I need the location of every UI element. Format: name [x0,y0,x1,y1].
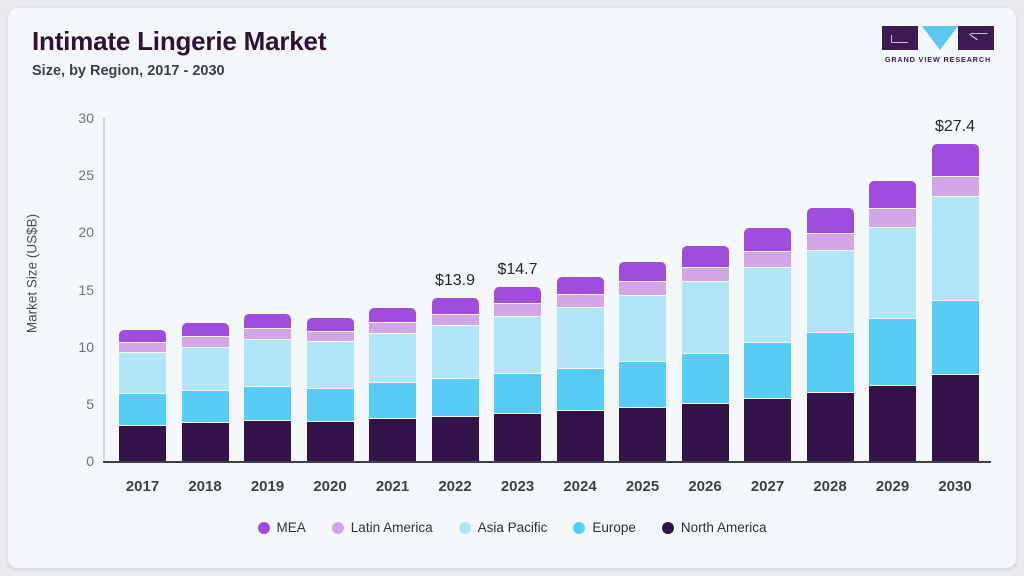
bar-segment[interactable] [182,323,229,336]
bar-segment[interactable] [869,208,916,227]
legend-item-mea[interactable]: MEA [258,520,306,535]
bar-segment[interactable] [119,352,166,393]
bar-segment[interactable] [744,228,791,251]
bar-2027[interactable] [744,228,791,461]
bar-segment[interactable] [244,386,291,420]
bar-segment[interactable] [619,262,666,281]
bar-segment[interactable] [244,339,291,386]
bar-segment[interactable] [307,388,354,421]
bar-segment[interactable] [119,425,166,461]
legend-item-north-america[interactable]: North America [662,520,767,535]
bar-segment[interactable] [119,342,166,352]
bar-segment[interactable] [619,407,666,461]
bar-2029[interactable] [869,181,916,461]
bar-segment[interactable] [369,382,416,417]
bar-segment[interactable] [932,300,979,375]
bar-segment[interactable] [682,353,729,403]
bar-2026[interactable] [682,246,729,461]
bar-2019[interactable] [244,314,291,461]
bar-2023[interactable] [494,287,541,461]
bar-segment[interactable] [182,347,229,391]
bar-segment[interactable] [432,416,479,461]
bar-2018[interactable] [182,323,229,461]
bar-segment[interactable] [682,267,729,282]
bar-2022[interactable] [432,298,479,461]
bar-segment[interactable] [432,314,479,326]
bar-segment[interactable] [182,390,229,422]
bar-segment[interactable] [807,392,854,461]
y-axis-tick-label: 20 [48,224,94,240]
bar-segment[interactable] [744,251,791,267]
bar-segment[interactable] [494,373,541,413]
bar-segment[interactable] [557,410,604,461]
bar-segment[interactable] [557,294,604,307]
bar-segment[interactable] [619,281,666,295]
bar-segment[interactable] [807,332,854,392]
legend-label: Asia Pacific [478,520,548,535]
legend-item-europe[interactable]: Europe [573,520,636,535]
bar-segment[interactable] [244,314,291,328]
bar-segment[interactable] [619,361,666,407]
bar-2020[interactable] [307,318,354,461]
bar-segment[interactable] [369,308,416,322]
bar-segment[interactable] [807,250,854,332]
bar-segment[interactable] [432,325,479,377]
bar-segment[interactable] [369,333,416,383]
bar-segment[interactable] [557,368,604,411]
bar-segment[interactable] [744,398,791,461]
bar-segment[interactable] [369,418,416,461]
bar-2021[interactable] [369,308,416,461]
bar-segment[interactable] [307,318,354,331]
bar-2028[interactable] [807,208,854,461]
y-axis-tick-label: 5 [48,396,94,412]
legend-label: Latin America [351,520,433,535]
bar-segment[interactable] [307,421,354,461]
bar-segment[interactable] [494,316,541,374]
bar-segment[interactable] [307,341,354,388]
bar-segment[interactable] [682,403,729,461]
bar-segment[interactable] [869,181,916,208]
bar-segment[interactable] [244,420,291,461]
bar-segment[interactable] [494,413,541,461]
legend-item-latin-america[interactable]: Latin America [332,520,433,535]
legend-label: Europe [592,520,636,535]
bar-segment[interactable] [244,328,291,339]
legend-label: MEA [277,520,306,535]
bar-segment[interactable] [557,277,604,294]
bar-segment[interactable] [307,331,354,342]
bar-value-label: $27.4 [900,118,1010,136]
bar-2030[interactable] [932,144,979,461]
bar-segment[interactable] [557,307,604,367]
legend-swatch-icon [662,522,674,534]
bar-2017[interactable] [119,330,166,461]
legend-swatch-icon [332,522,344,534]
bar-segment[interactable] [682,246,729,267]
legend-label: North America [681,520,767,535]
y-axis-tick-label: 30 [48,110,94,126]
stacked-bar-chart: Market Size (US$B) 051015202530 20172018… [8,8,1016,568]
y-axis-line [103,118,105,463]
bar-value-label: $14.7 [463,261,573,279]
bar-segment[interactable] [432,378,479,416]
bar-2024[interactable] [557,277,604,461]
bar-segment[interactable] [182,336,229,347]
bar-segment[interactable] [369,322,416,333]
bar-segment[interactable] [869,227,916,318]
y-axis-tick-label: 10 [48,339,94,355]
legend-swatch-icon [258,522,270,534]
y-axis-title: Market Size (US$B) [25,124,40,424]
bar-segment[interactable] [807,233,854,250]
bar-segment[interactable] [682,281,729,353]
legend-item-asia-pacific[interactable]: Asia Pacific [459,520,548,535]
legend-swatch-icon [459,522,471,534]
legend-swatch-icon [573,522,585,534]
bar-segment[interactable] [182,422,229,461]
bar-segment[interactable] [932,196,979,300]
bar-segment[interactable] [744,342,791,398]
bar-segment[interactable] [119,330,166,342]
bar-segment[interactable] [932,176,979,196]
x-axis-tick-label: 2030 [910,478,1000,495]
bar-segment[interactable] [869,385,916,461]
chart-legend: MEALatin AmericaAsia PacificEuropeNorth … [8,520,1016,535]
bar-segment[interactable] [119,393,166,424]
chart-card: Intimate Lingerie Market Size, by Region… [8,8,1016,568]
bar-segment[interactable] [932,144,979,176]
y-axis-tick-label: 0 [48,453,94,469]
bar-segment[interactable] [494,303,541,315]
bar-2025[interactable] [619,262,666,461]
y-axis-tick-label: 25 [48,167,94,183]
bar-segment[interactable] [432,298,479,313]
bar-segment[interactable] [807,208,854,233]
x-axis-line [103,461,991,463]
bar-segment[interactable] [744,267,791,342]
bar-segment[interactable] [932,374,979,461]
y-axis-tick-label: 15 [48,282,94,298]
bar-segment[interactable] [869,318,916,385]
bar-segment[interactable] [619,295,666,361]
